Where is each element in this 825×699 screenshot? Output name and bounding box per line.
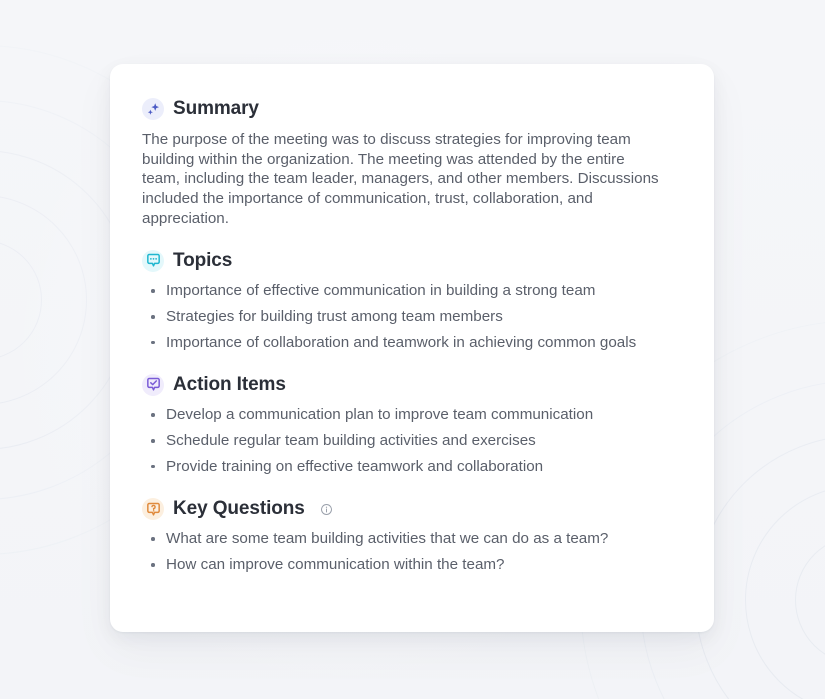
- section-header-action-items: Action Items: [142, 374, 682, 397]
- decorative-ring: [745, 485, 825, 699]
- list-item: Provide training on effective teamwork a…: [164, 457, 674, 477]
- section-title: Key Questions: [173, 498, 305, 521]
- meeting-summary-card: Summary The purpose of the meeting was t…: [110, 64, 714, 632]
- section-title: Summary: [173, 98, 259, 121]
- chat-bubble-check-icon: [142, 374, 164, 396]
- action-items-list: Develop a communication plan to improve …: [142, 405, 682, 476]
- decorative-ring: [695, 435, 825, 699]
- section-header-summary: Summary: [142, 98, 682, 121]
- list-item: Schedule regular team building activitie…: [164, 431, 674, 451]
- decorative-ring: [795, 535, 825, 665]
- list-item: How can improve communication within the…: [164, 555, 674, 575]
- decorative-ring: [0, 240, 42, 360]
- spacer: [142, 483, 682, 498]
- topics-list: Importance of effective communication in…: [142, 281, 682, 352]
- decorative-ring: [0, 195, 87, 405]
- section-header-key-questions: Key Questions: [142, 498, 682, 521]
- section-action-items: Action Items Develop a communication pla…: [142, 374, 682, 477]
- section-summary: Summary The purpose of the meeting was t…: [142, 98, 682, 229]
- chat-bubble-question-icon: [142, 498, 164, 520]
- section-header-topics: Topics: [142, 250, 682, 273]
- list-item: Importance of collaboration and teamwork…: [164, 333, 674, 353]
- info-circle-icon[interactable]: [320, 503, 333, 516]
- section-title: Action Items: [173, 374, 286, 397]
- sparkle-icon: [142, 98, 164, 120]
- list-item: What are some team building activities t…: [164, 529, 674, 549]
- spacer: [142, 359, 682, 374]
- list-item: Importance of effective communication in…: [164, 281, 674, 301]
- summary-paragraph: The purpose of the meeting was to discus…: [142, 130, 666, 229]
- section-key-questions: Key Questions What are some team buildin…: [142, 498, 682, 575]
- chat-bubble-dots-icon: [142, 250, 164, 272]
- key-questions-list: What are some team building activities t…: [142, 529, 682, 575]
- list-item: Strategies for building trust among team…: [164, 307, 674, 327]
- list-item: Develop a communication plan to improve …: [164, 405, 674, 425]
- spacer: [142, 235, 682, 250]
- section-topics: Topics Importance of effective communica…: [142, 250, 682, 353]
- section-title: Topics: [173, 250, 232, 273]
